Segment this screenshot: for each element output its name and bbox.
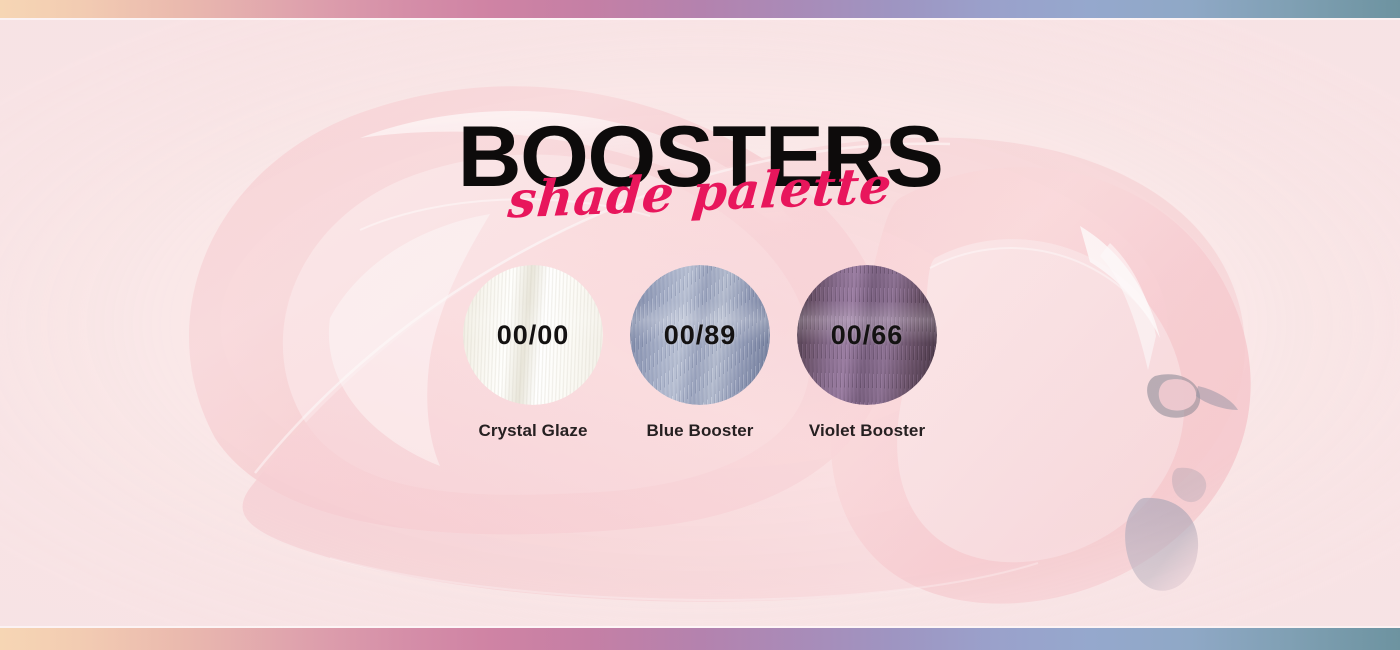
swatch-label: Blue Booster xyxy=(630,421,770,441)
headline-block: BOOSTERS shade palette xyxy=(0,114,1400,220)
swatch-disc-violet-booster[interactable]: 00/66 xyxy=(797,265,937,405)
swatch-label: Crystal Glaze xyxy=(463,421,603,441)
banner-canvas: BOOSTERS shade palette 00/00 Crystal Gla… xyxy=(0,18,1400,630)
bottom-gradient-strip xyxy=(0,628,1400,650)
swatch-crystal-glaze[interactable]: 00/00 Crystal Glaze xyxy=(463,265,603,441)
swatch-label: Violet Booster xyxy=(797,421,937,441)
swatch-code: 00/89 xyxy=(664,320,737,351)
swatch-disc-crystal-glaze[interactable]: 00/00 xyxy=(463,265,603,405)
shade-swatch-row: 00/00 Crystal Glaze 00/89 Blue Booster 0… xyxy=(0,265,1400,441)
swatch-blue-booster[interactable]: 00/89 Blue Booster xyxy=(630,265,770,441)
swatch-code: 00/66 xyxy=(831,320,904,351)
swatch-violet-booster[interactable]: 00/66 Violet Booster xyxy=(797,265,937,441)
shade-palette-banner: BOOSTERS shade palette 00/00 Crystal Gla… xyxy=(0,0,1400,650)
top-gradient-strip xyxy=(0,0,1400,18)
swatch-code: 00/00 xyxy=(497,320,570,351)
swatch-disc-blue-booster[interactable]: 00/89 xyxy=(630,265,770,405)
